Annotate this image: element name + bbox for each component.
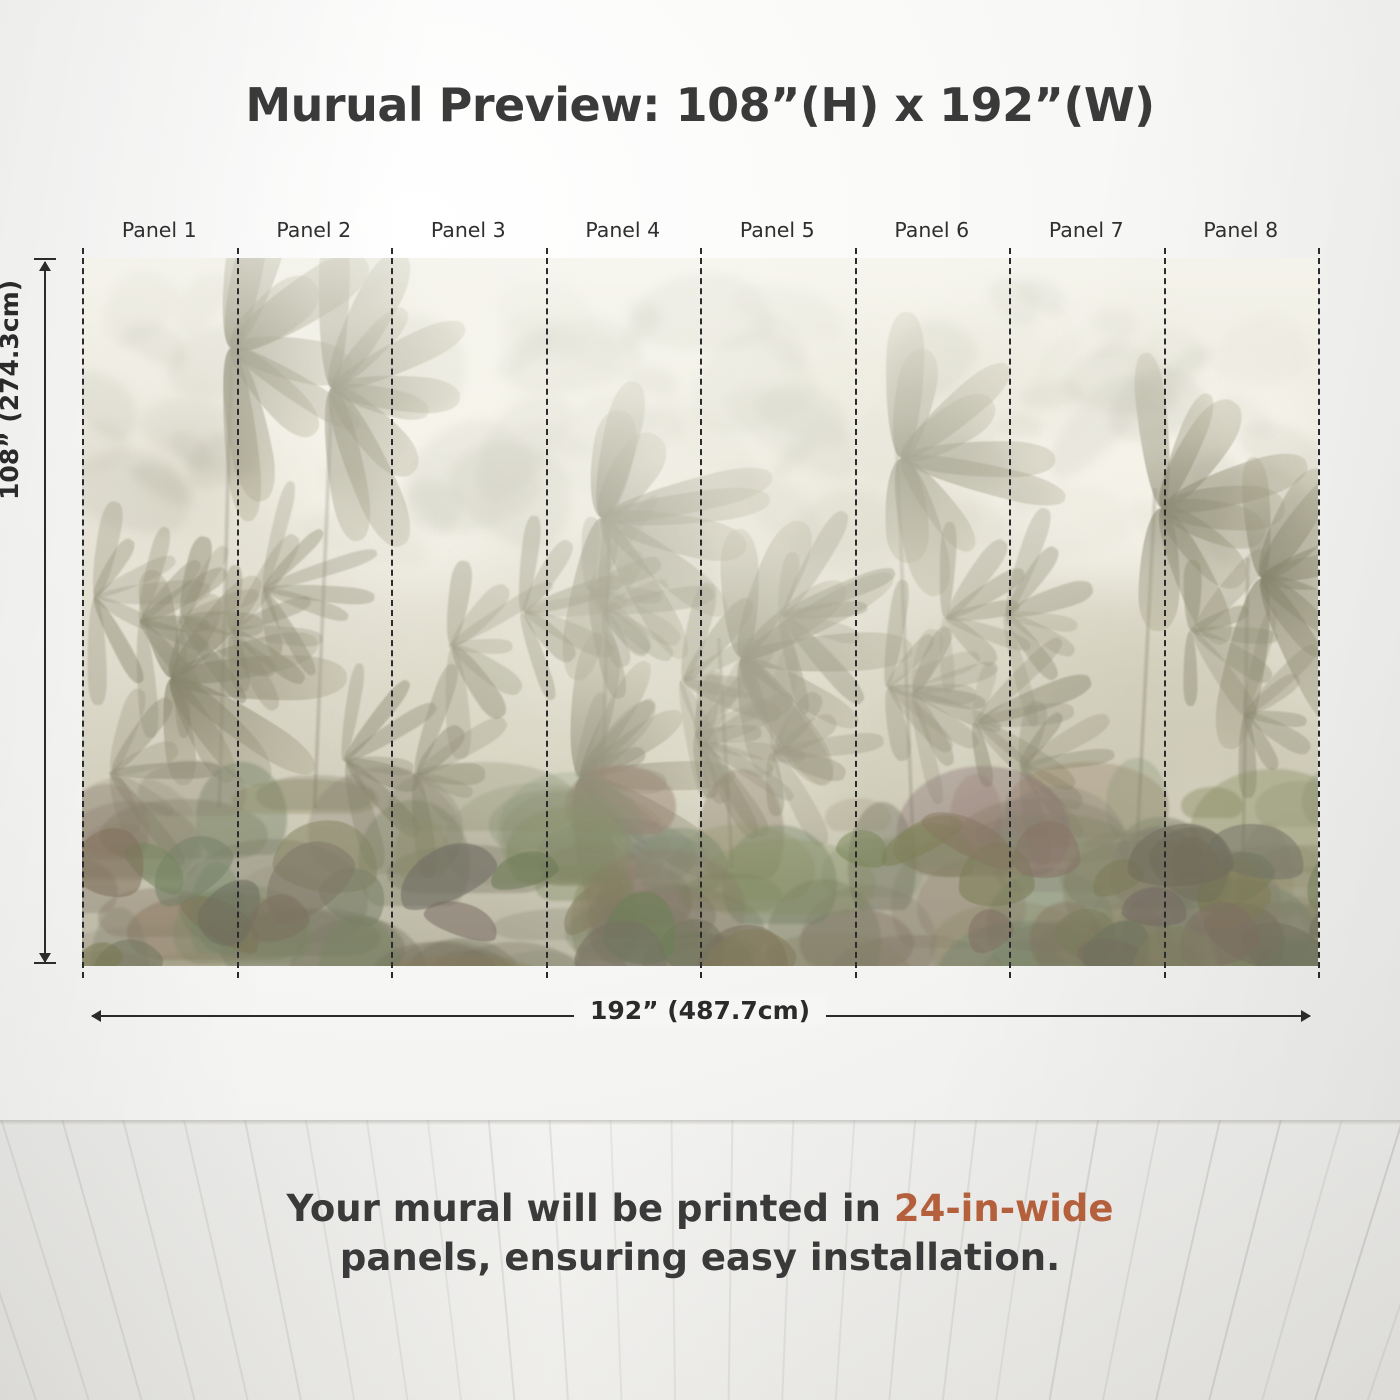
panel-divider-5: [855, 248, 857, 978]
panel-divider-8: [1318, 248, 1320, 978]
footer-line-1: Your mural will be printed in 24-in-wide: [0, 1185, 1400, 1234]
panel-label-8: Panel 8: [1203, 218, 1278, 242]
panel-divider-0: [82, 248, 84, 978]
panel-divider-3: [546, 248, 548, 978]
panel-divider-4: [700, 248, 702, 978]
panel-label-1: Panel 1: [122, 218, 197, 242]
mural-preview-page: Murual Preview: 108”(H) x 192”(W) Panel …: [0, 0, 1400, 1400]
panel-label-3: Panel 3: [431, 218, 506, 242]
panel-label-4: Panel 4: [585, 218, 660, 242]
footer-caption: Your mural will be printed in 24-in-wide…: [0, 1185, 1400, 1283]
height-label: 108” (274.3cm): [0, 280, 24, 500]
panel-divider-6: [1009, 248, 1011, 978]
panel-label-2: Panel 2: [276, 218, 351, 242]
panel-label-5: Panel 5: [740, 218, 815, 242]
height-arrow: [44, 262, 46, 962]
width-label-text: 192” (487.7cm): [574, 996, 826, 1025]
footer-line-2: panels, ensuring easy installation.: [0, 1234, 1400, 1283]
width-label: 192” (487.7cm): [0, 996, 1400, 1025]
panel-divider-7: [1164, 248, 1166, 978]
panel-divider-1: [237, 248, 239, 978]
panel-label-7: Panel 7: [1049, 218, 1124, 242]
panel-label-6: Panel 6: [894, 218, 969, 242]
page-title: Murual Preview: 108”(H) x 192”(W): [0, 78, 1400, 132]
panel-divider-2: [391, 248, 393, 978]
footer-highlight: 24-in-wide: [894, 1187, 1114, 1230]
height-cap-top: [34, 258, 56, 260]
floor-wall-edge: [0, 1120, 1400, 1125]
footer-line1-before: Your mural will be printed in: [286, 1187, 893, 1230]
